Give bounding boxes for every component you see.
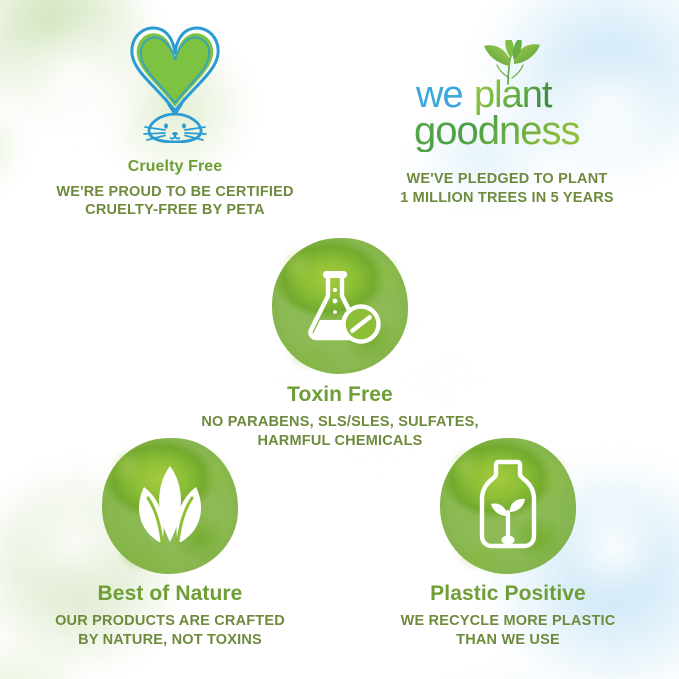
badge-subtitle-line: THAN WE USE <box>352 631 664 650</box>
badge-title: Best of Nature <box>14 582 326 605</box>
badge-title: Plastic Positive <box>352 582 664 605</box>
svg-text:goodness: goodness <box>414 109 579 152</box>
badge-subtitle-line: 1 MILLION TREES IN 5 YEARS <box>352 189 662 208</box>
badge-subtitle-line: CRUELTY-FREE BY PETA <box>20 201 330 220</box>
badge-subtitle-line: BY NATURE, NOT TOXINS <box>14 631 326 650</box>
bottle-sprout-icon <box>469 456 547 557</box>
badge-subtitle-line: WE RECYCLE MORE PLASTIC <box>352 612 664 631</box>
badge-subtitle-line: WE'VE PLEDGED TO PLANT <box>352 170 662 189</box>
three-leaves-icon <box>126 458 214 555</box>
badge-subtitle: OUR PRODUCTS ARE CRAFTED BY NATURE, NOT … <box>14 612 326 649</box>
badge-subtitle: WE'VE PLEDGED TO PLANT 1 MILLION TREES I… <box>352 170 662 207</box>
we-plant-goodness-logo: we plant goodness <box>412 40 602 148</box>
badge-subtitle-line: OUR PRODUCTS ARE CRAFTED <box>14 612 326 631</box>
three-leaves-icon-wrap <box>14 438 326 574</box>
we-plant-goodness-logo-wrap: we plant goodness <box>352 20 662 148</box>
badge-cruelty-free: Cruelty Free WE'RE PROUD TO BE CERTIFIED… <box>20 20 330 220</box>
badge-title: Toxin Free <box>168 383 512 406</box>
best-of-nature-circle <box>102 438 238 574</box>
flask-no-entry-icon-wrap <box>168 238 512 374</box>
infographic-canvas: Cruelty Free WE'RE PROUD TO BE CERTIFIED… <box>0 0 679 679</box>
badge-subtitle: WE RECYCLE MORE PLASTIC THAN WE USE <box>352 612 664 649</box>
badge-plastic-positive: Plastic Positive WE RECYCLE MORE PLASTIC… <box>352 438 664 649</box>
plastic-positive-circle <box>440 438 576 574</box>
badge-subtitle: WE'RE PROUD TO BE CERTIFIED CRUELTY-FREE… <box>20 183 330 220</box>
flask-no-entry-icon <box>294 258 386 355</box>
badge-we-plant-goodness: we plant goodness WE'VE PLEDGED TO PLANT… <box>352 20 662 207</box>
badge-subtitle-line: No PARABENS, SLS/SLES, SULFATES, <box>168 413 512 432</box>
badge-toxin-free: Toxin Free No PARABENS, SLS/SLES, SULFAT… <box>168 238 512 450</box>
bottle-sprout-icon-wrap <box>352 438 664 574</box>
toxin-free-circle <box>272 238 408 374</box>
badge-subtitle-line: WE'RE PROUD TO BE CERTIFIED <box>20 183 330 202</box>
peta-bunny-heart-icon <box>109 15 241 148</box>
badge-best-of-nature: Best of Nature OUR PRODUCTS ARE CRAFTED … <box>14 438 326 649</box>
badge-title: Cruelty Free <box>20 158 330 176</box>
peta-bunny-heart-icon-wrap <box>20 20 330 148</box>
